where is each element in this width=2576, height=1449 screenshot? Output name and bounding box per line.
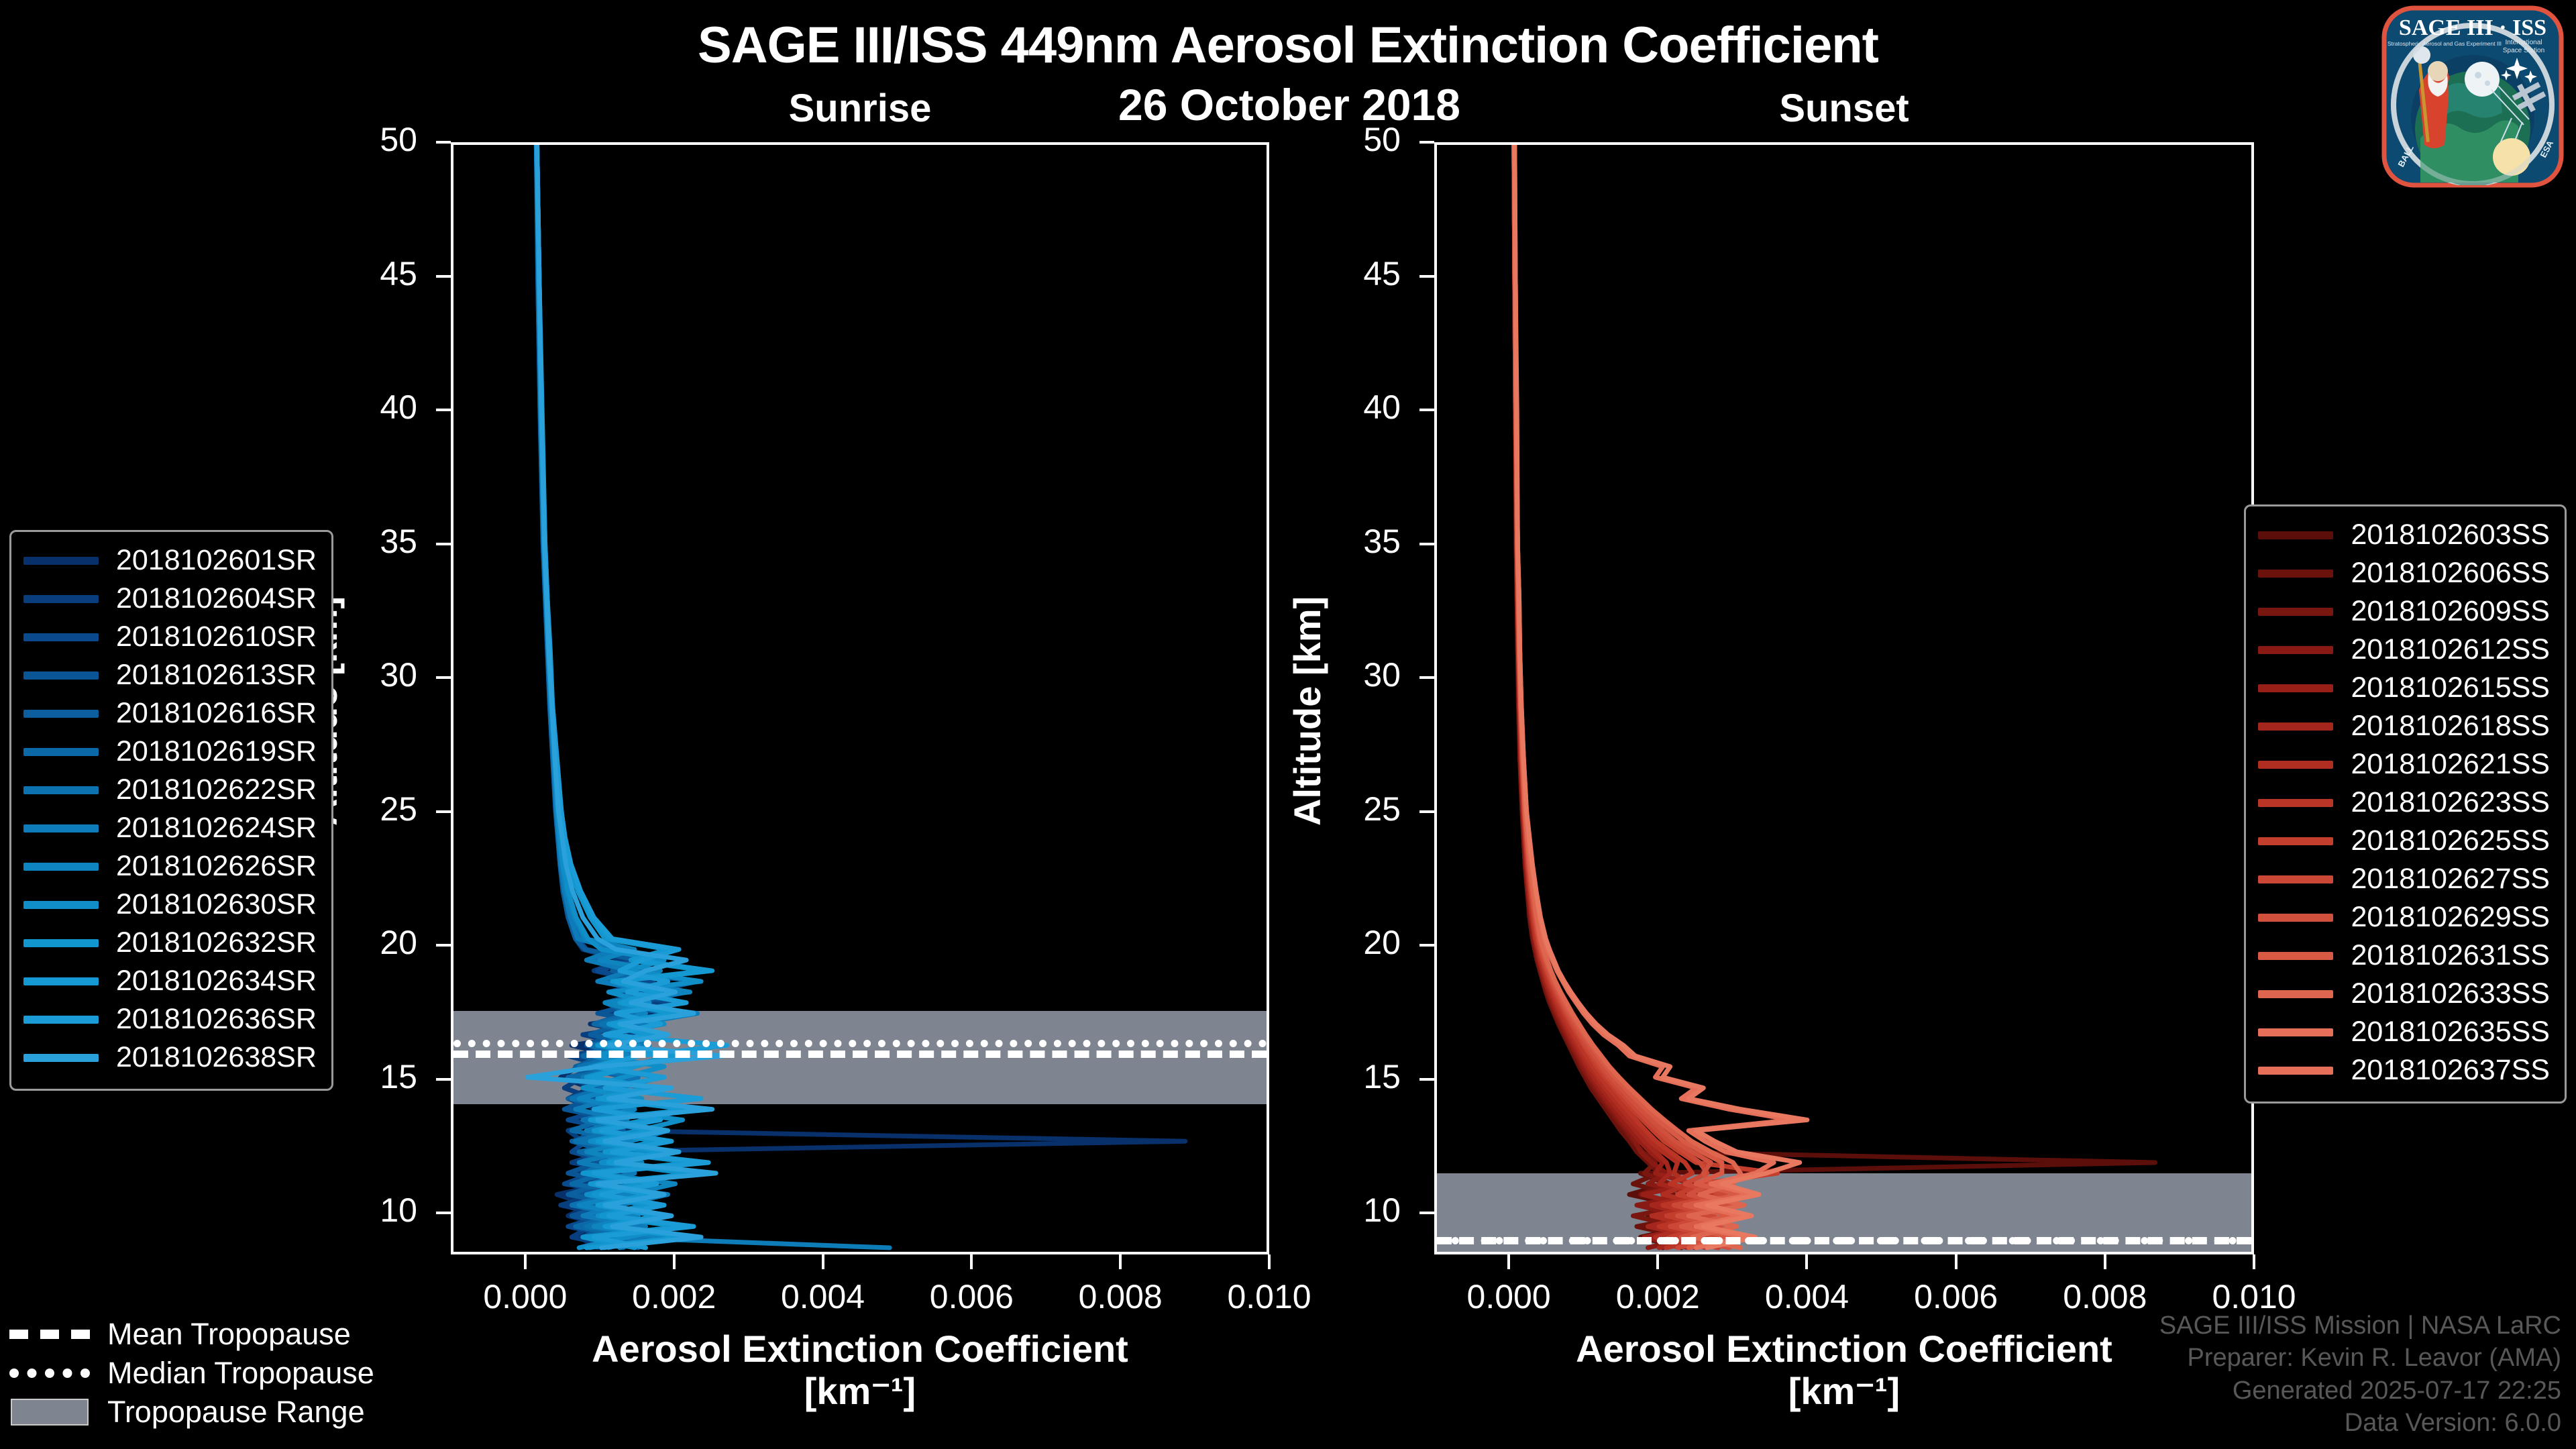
- dashed-line-icon: [9, 1327, 90, 1342]
- sunrise-legend-item[interactable]: 2018102630SR: [23, 885, 317, 924]
- sunset-legend-item[interactable]: 2018102637SS: [2258, 1051, 2550, 1089]
- y-axis-tick-label: 15: [1300, 1057, 1401, 1096]
- legend-label: 2018102633SS: [2351, 977, 2550, 1010]
- color-swatch-icon: [2258, 608, 2333, 616]
- sunset-legend-item[interactable]: 2018102603SS: [2258, 516, 2550, 554]
- color-swatch-icon: [2258, 799, 2333, 807]
- sunrise-legend-item[interactable]: 2018102604SR: [23, 580, 317, 618]
- y-axis-tick: [1419, 944, 1434, 947]
- sunset-event-legend[interactable]: 2018102603SS2018102606SS2018102609SS2018…: [2244, 504, 2567, 1104]
- x-axis-tick: [1268, 1254, 1271, 1269]
- legend-label: 2018102603SS: [2351, 519, 2550, 551]
- x-axis-tick-label: 0.010: [1182, 1277, 1356, 1316]
- legend-label: 2018102623SS: [2351, 786, 2550, 819]
- color-swatch-icon: [23, 824, 99, 833]
- y-axis-tick-label: 50: [317, 120, 417, 159]
- sunset-legend-item[interactable]: 2018102629SS: [2258, 898, 2550, 936]
- legend-label: 2018102618SS: [2351, 710, 2550, 743]
- legend-label: 2018102606SS: [2351, 557, 2550, 590]
- y-axis-tick: [436, 543, 451, 545]
- profile-line: [1515, 145, 1792, 1248]
- legend-label: 2018102609SS: [2351, 595, 2550, 628]
- sunset-legend-item[interactable]: 2018102612SS: [2258, 631, 2550, 669]
- legend-label: 2018102624SR: [116, 812, 317, 845]
- x-axis-title-units: [km⁻¹]: [1434, 1371, 2254, 1413]
- filled-band-icon: [9, 1405, 90, 1419]
- sunrise-legend-item[interactable]: 2018102638SR: [23, 1038, 317, 1077]
- color-swatch-icon: [23, 748, 99, 756]
- sage-iii-iss-mission-patch-logo: SAGE III · ISS Stratospheric Aerosol and…: [2380, 4, 2565, 189]
- x-axis-tick-label: 0.000: [1421, 1277, 1596, 1316]
- color-swatch-icon: [2258, 761, 2333, 769]
- sunrise-legend-item[interactable]: 2018102613SR: [23, 656, 317, 694]
- color-swatch-icon: [23, 710, 99, 718]
- y-axis-tick: [436, 409, 451, 411]
- sunrise-legend-item[interactable]: 2018102632SR: [23, 924, 317, 962]
- x-axis-tick: [970, 1254, 973, 1269]
- sunrise-plot-area: [451, 142, 1269, 1254]
- sunset-legend-item[interactable]: 2018102627SS: [2258, 860, 2550, 898]
- legend-item-tropopause-range: Tropopause Range: [9, 1393, 374, 1432]
- legend-label: 2018102613SR: [116, 659, 317, 692]
- x-axis-tick-label: 0.004: [1719, 1277, 1894, 1316]
- sunset-legend-item[interactable]: 2018102609SS: [2258, 592, 2550, 631]
- y-axis-tick-label: 45: [1300, 254, 1401, 293]
- legend-item-median-tropopause: Median Tropopause: [9, 1354, 374, 1393]
- color-swatch-icon: [2258, 1028, 2333, 1036]
- x-axis-tick: [1119, 1254, 1122, 1269]
- sunset-legend-item[interactable]: 2018102635SS: [2258, 1013, 2550, 1051]
- sunrise-legend-item[interactable]: 2018102619SR: [23, 733, 317, 771]
- legend-label: 2018102616SR: [116, 697, 317, 730]
- y-axis-tick: [436, 141, 451, 144]
- legend-label: 2018102627SS: [2351, 863, 2550, 896]
- legend-label: 2018102634SR: [116, 965, 317, 998]
- color-swatch-icon: [23, 939, 99, 947]
- x-axis-title-line1: Aerosol Extinction Coefficient: [451, 1328, 1269, 1371]
- mean-tropopause-line: [453, 1051, 1267, 1058]
- color-swatch-icon: [23, 557, 99, 565]
- color-swatch-icon: [23, 977, 99, 985]
- y-axis-tick: [1419, 543, 1434, 545]
- x-axis-tick: [1805, 1254, 1808, 1269]
- y-axis-tick-label: 10: [317, 1191, 417, 1230]
- sunset-legend-item[interactable]: 2018102623SS: [2258, 784, 2550, 822]
- median-tropopause-line: [1437, 1237, 2251, 1244]
- y-axis-tick: [1419, 810, 1434, 813]
- credit-line: SAGE III/ISS Mission | NASA LaRC: [2159, 1309, 2561, 1342]
- profile-line: [1514, 145, 1778, 1248]
- sunrise-legend-item[interactable]: 2018102624SR: [23, 809, 317, 847]
- y-axis-tick: [1419, 409, 1434, 411]
- x-axis-title: Aerosol Extinction Coefficient[km⁻¹]: [1434, 1328, 2254, 1412]
- y-axis-tick: [1419, 676, 1434, 679]
- y-axis-tick-label: 40: [1300, 388, 1401, 427]
- color-swatch-icon: [2258, 952, 2333, 960]
- sunset-legend-item[interactable]: 2018102618SS: [2258, 707, 2550, 745]
- credit-line: Data Version: 6.0.0: [2159, 1407, 2561, 1440]
- logo-subtitle-left: Stratospheric Aerosol and Gas Experiment…: [2387, 40, 2502, 47]
- x-axis-tick: [673, 1254, 676, 1269]
- logo-subtitle-right-1: International: [2505, 39, 2542, 46]
- x-axis-tick: [1656, 1254, 1659, 1269]
- credit-line: Generated 2025-07-17 22:25: [2159, 1375, 2561, 1407]
- sunset-legend-item[interactable]: 2018102625SS: [2258, 822, 2550, 860]
- legend-label: 2018102621SS: [2351, 748, 2550, 781]
- legend-label: 2018102637SS: [2351, 1054, 2550, 1087]
- color-swatch-icon: [2258, 722, 2333, 731]
- y-axis-tick-label: 10: [1300, 1191, 1401, 1230]
- sunrise-legend-item[interactable]: 2018102634SR: [23, 962, 317, 1000]
- legend-label: 2018102631SS: [2351, 939, 2550, 972]
- color-swatch-icon: [23, 672, 99, 680]
- y-axis-tick: [436, 1212, 451, 1214]
- x-axis-tick: [2104, 1254, 2106, 1269]
- y-axis-tick-label: 35: [1300, 522, 1401, 561]
- legend-label: 2018102638SR: [116, 1041, 317, 1074]
- legend-item-mean-tropopause: Mean Tropopause: [9, 1315, 374, 1354]
- legend-label: 2018102630SR: [116, 888, 317, 921]
- x-axis-tick: [524, 1254, 527, 1269]
- legend-label: 2018102612SS: [2351, 633, 2550, 666]
- sunset-legend-item[interactable]: 2018102633SS: [2258, 975, 2550, 1013]
- x-axis-title: Aerosol Extinction Coefficient[km⁻¹]: [451, 1328, 1269, 1412]
- y-axis-tick-label: 50: [1300, 120, 1401, 159]
- legend-label: 2018102626SR: [116, 850, 317, 883]
- y-axis-tick-label: 40: [317, 388, 417, 427]
- logo-subtitle-right-2: Space Station: [2503, 47, 2544, 54]
- legend-label: 2018102619SR: [116, 735, 317, 768]
- x-axis-tick: [822, 1254, 824, 1269]
- color-swatch-icon: [2258, 875, 2333, 883]
- sunset-legend-item[interactable]: 2018102631SS: [2258, 936, 2550, 975]
- sunrise-legend-item[interactable]: 2018102616SR: [23, 694, 317, 733]
- legend-label: 2018102615SS: [2351, 672, 2550, 704]
- color-swatch-icon: [23, 633, 99, 641]
- y-axis-tick: [436, 676, 451, 679]
- sunrise-panel-title: Sunrise: [451, 86, 1269, 131]
- sunrise-legend-item[interactable]: 2018102610SR: [23, 618, 317, 656]
- profile-series-group: [1437, 145, 2251, 1252]
- x-axis-title-units: [km⁻¹]: [451, 1371, 1269, 1413]
- y-axis-title: Altitude [km]: [1285, 596, 1329, 826]
- credits-block: SAGE III/ISS Mission | NASA LaRC Prepare…: [2159, 1309, 2561, 1440]
- x-axis-tick: [1507, 1254, 1510, 1269]
- sunrise-legend-item[interactable]: 2018102626SR: [23, 847, 317, 885]
- legend-label: 2018102610SR: [116, 621, 317, 653]
- color-swatch-icon: [2258, 684, 2333, 692]
- legend-label: 2018102636SR: [116, 1003, 317, 1036]
- sunset-legend-item[interactable]: 2018102606SS: [2258, 554, 2550, 592]
- legend-label: 2018102604SR: [116, 582, 317, 615]
- profile-series-group: [453, 145, 1267, 1252]
- legend-label: 2018102625SS: [2351, 824, 2550, 857]
- profile-line: [1514, 145, 1744, 1248]
- legend-label: Median Tropopause: [107, 1356, 374, 1391]
- credit-line: Preparer: Kevin R. Leavor (AMA): [2159, 1342, 2561, 1375]
- y-axis-tick: [436, 944, 451, 947]
- color-swatch-icon: [2258, 1067, 2333, 1075]
- color-swatch-icon: [2258, 531, 2333, 539]
- sunrise-legend-item[interactable]: 2018102636SR: [23, 1000, 317, 1038]
- color-swatch-icon: [2258, 570, 2333, 578]
- profile-line: [1515, 145, 1807, 1248]
- sunrise-legend-item[interactable]: 2018102601SR: [23, 541, 317, 580]
- legend-label: 2018102632SR: [116, 926, 317, 959]
- color-swatch-icon: [2258, 990, 2333, 998]
- y-axis-tick-label: 20: [1300, 923, 1401, 962]
- legend-label: 2018102629SS: [2351, 901, 2550, 934]
- tropopause-legend: Mean Tropopause Median Tropopause Tropop…: [9, 1315, 374, 1432]
- y-axis-tick: [1419, 275, 1434, 278]
- sunset-panel-title: Sunset: [1434, 86, 2254, 131]
- x-axis-tick-label: 0.002: [1570, 1277, 1745, 1316]
- legend-label: 2018102601SR: [116, 544, 317, 577]
- color-swatch-icon: [23, 595, 99, 603]
- color-swatch-icon: [23, 1016, 99, 1024]
- sunrise-event-legend[interactable]: 2018102601SR2018102604SR2018102610SR2018…: [9, 530, 333, 1091]
- sunset-legend-item[interactable]: 2018102621SS: [2258, 745, 2550, 784]
- page-title: SAGE III/ISS 449nm Aerosol Extinction Co…: [0, 16, 2576, 74]
- x-axis-tick: [1955, 1254, 1957, 1269]
- y-axis-tick: [1419, 1078, 1434, 1081]
- y-axis-tick: [436, 1078, 451, 1081]
- y-axis-tick-label: 45: [317, 254, 417, 293]
- legend-label: 2018102635SS: [2351, 1016, 2550, 1049]
- x-axis-tick: [2253, 1254, 2255, 1269]
- sunset-plot-area: [1434, 142, 2254, 1254]
- legend-label: Tropopause Range: [107, 1395, 365, 1430]
- x-axis-title-line1: Aerosol Extinction Coefficient: [1434, 1328, 2254, 1371]
- logo-title: SAGE III · ISS: [2399, 15, 2546, 40]
- color-swatch-icon: [2258, 837, 2333, 845]
- y-axis-tick: [1419, 1212, 1434, 1214]
- legend-label: Mean Tropopause: [107, 1317, 351, 1352]
- y-axis-tick: [436, 810, 451, 813]
- legend-label: 2018102622SR: [116, 773, 317, 806]
- color-swatch-icon: [23, 901, 99, 909]
- y-axis-tick: [1419, 141, 1434, 144]
- x-axis-tick-label: 0.006: [1869, 1277, 2043, 1316]
- color-swatch-icon: [2258, 646, 2333, 654]
- color-swatch-icon: [2258, 914, 2333, 922]
- profile-line: [527, 145, 723, 1248]
- dotted-line-icon: [9, 1366, 90, 1381]
- color-swatch-icon: [23, 786, 99, 794]
- sunset-legend-item[interactable]: 2018102615SS: [2258, 669, 2550, 707]
- color-swatch-icon: [23, 863, 99, 871]
- color-swatch-icon: [23, 1054, 99, 1062]
- median-tropopause-line: [453, 1040, 1267, 1047]
- y-axis-tick: [436, 275, 451, 278]
- sunrise-legend-item[interactable]: 2018102622SR: [23, 771, 317, 809]
